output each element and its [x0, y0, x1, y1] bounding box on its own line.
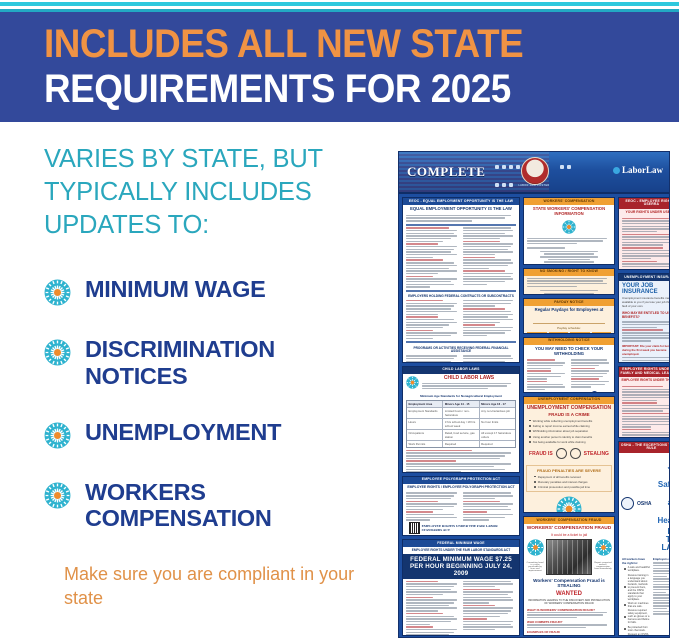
- panel-header: UNEMPLOYMENT COMPENSATION: [524, 397, 614, 404]
- handcuffs-icon: [556, 447, 581, 460]
- panel-payday-notice: PAYDAY NOTICE Regular Paydays for Employ…: [523, 298, 615, 334]
- jail-photo: [546, 539, 592, 575]
- panel-unemployment-fraud: UNEMPLOYMENT COMPENSATION UNEMPLOYMENT C…: [523, 396, 615, 514]
- compliance-footnote: Make sure you are compliant in your stat…: [64, 562, 374, 611]
- list-item: Work on machines that are safe.: [628, 602, 650, 608]
- icon-caption-right: Report suspected workers' compensation f…: [594, 562, 612, 570]
- promo-graphic: INCLUDES ALL NEW STATE REQUIREMENTS FOR …: [0, 0, 679, 644]
- list-item: Working while collecting unemployment be…: [533, 419, 593, 423]
- agency-label: EMPLOYEE RIGHTS UNDER THE FAIR LABOR STA…: [422, 524, 513, 532]
- sunburst-icon: [562, 220, 576, 234]
- payday-option[interactable]: Bi-Weekly: [549, 332, 569, 334]
- cell: Hours: [407, 419, 443, 429]
- osha-headline-1: Job Safety and Health: [657, 462, 670, 525]
- panel-header: EEOC - EQUAL EMPLOYMENT OPPORTUNITY IS T…: [403, 198, 519, 205]
- poster-logo-text: LaborLaw: [622, 165, 663, 175]
- panel-no-smoking: NO SMOKING / RIGHT TO KNOW: [523, 268, 615, 296]
- panel-title: CHILD LABOR LAWS: [422, 376, 516, 382]
- cell: 3 hrs school day / 18 hrs school week: [443, 419, 479, 429]
- col-header: Minors Age 16 - 17: [480, 401, 515, 407]
- headline-line1: INCLUDES ALL NEW STATE: [44, 24, 628, 64]
- list-item: Monetary penalties and interest charges: [538, 480, 588, 484]
- poster-header: COMPLETE LABOR LAW POSTER LaborLaw: [399, 152, 669, 194]
- important-note: IMPORTANT: File your claim for benefits …: [622, 344, 670, 356]
- section-heading: WHO MAY BE ENTITLED TO UI BENEFITS?: [619, 309, 670, 319]
- callout-right: STEALING: [584, 451, 609, 457]
- payday-option[interactable]: Weekly: [527, 332, 547, 334]
- poster-logo: LaborLaw: [613, 165, 663, 175]
- labor-law-poster-image: COMPLETE LABOR LAW POSTER LaborLaw EEOC …: [398, 151, 670, 638]
- panel-title: YOUR RIGHTS UNDER USERRA: [619, 209, 670, 216]
- panel-title: YOU MAY NEED TO CHECK YOUR WITHHOLDING: [524, 345, 614, 358]
- panel-fmla: EMPLOYEE RIGHTS UNDER THE FAMILY AND MED…: [618, 366, 670, 438]
- panel-title: STATE WORKERS' COMPENSATION INFORMATION: [524, 205, 614, 218]
- osha-logo: OSHA: [637, 501, 651, 507]
- list-item: Request an OSHA inspection, and speak to…: [628, 633, 650, 636]
- panel-subheading: EMPLOYERS HOLDING FEDERAL CONTRACTS OR S…: [406, 293, 516, 300]
- panel-header: UNEMPLOYMENT INSURANCE: [619, 274, 670, 281]
- poster-column-right: EEOC - EMPLOYEE RIGHTS / USERRA YOUR RIG…: [618, 197, 670, 636]
- options-label: Payday schedule:: [527, 326, 611, 330]
- poster-brand: COMPLETE: [407, 164, 485, 180]
- panel-header: WORKERS' COMPENSATION FRAUD: [524, 517, 614, 524]
- panel-child-labor: CHILD LABOR LAWS CHILD LABOR LAWS: [402, 366, 520, 473]
- child-labor-table: Employment Area Minors Age 14 - 15 Minor…: [406, 400, 516, 448]
- poster-seal-caption: LABOR LAW POSTER: [509, 184, 559, 187]
- payday-option[interactable]: Monthly: [592, 332, 612, 334]
- panel-title: WORKERS' COMPENSATION FRAUD: [524, 524, 614, 533]
- sunburst-icon: [527, 539, 544, 556]
- list-item-label: UNEMPLOYMENT: [85, 419, 281, 445]
- list-item-label: MINIMUM WAGE: [85, 276, 265, 302]
- panel-job-insurance: UNEMPLOYMENT INSURANCE YOUR JOB INSURANC…: [618, 273, 670, 362]
- headline-banner: INCLUDES ALL NEW STATE REQUIREMENTS FOR …: [0, 12, 679, 122]
- penalties-title: FRAUD PENALTIES ARE SEVERE: [529, 468, 609, 473]
- icon-caption-left: Committing fraud is a crime punishable b…: [526, 562, 544, 572]
- cell: Work Permits: [407, 441, 443, 447]
- list-item: Not being available for work while claim…: [533, 440, 586, 444]
- list-item: Be protected from toxic chemicals.: [628, 626, 650, 632]
- panel-subheading-2: PROGRAMS OR ACTIVITIES RECEIVING FEDERAL…: [406, 345, 516, 355]
- panel-header: NO SMOKING / RIGHT TO KNOW: [524, 269, 614, 276]
- panel-workers-comp-fraud: WORKERS' COMPENSATION FRAUD WORKERS' COM…: [523, 516, 615, 636]
- panel-userra: EEOC - EMPLOYEE RIGHTS / USERRA YOUR RIG…: [618, 197, 670, 270]
- panel-header: WORKERS' COMPENSATION: [524, 198, 614, 205]
- cell: Limited hours / non-hazardous: [443, 408, 479, 418]
- list-item-label: DISCRIMINATION NOTICES: [85, 336, 374, 389]
- table-row: Employment Standards Limited hours / non…: [407, 408, 515, 419]
- list-item: Repayment of all benefits received: [538, 475, 581, 479]
- panel-federal-minimum-wage: FEDERAL MINIMUM WAGE EMPLOYEE RIGHTS UND…: [402, 539, 520, 636]
- col-header: Minors Age 14 - 15: [443, 401, 479, 407]
- sunburst-icon: [406, 376, 419, 389]
- col-header: Employment Area: [407, 401, 443, 407]
- cell: No hour limits: [480, 419, 515, 429]
- list-item: Withholding information about job separa…: [533, 429, 588, 433]
- list-item: Failing to report income earned while cl…: [533, 424, 590, 428]
- sunburst-icon: [44, 279, 71, 306]
- wanted-subtitle: INFORMATION LEADING TO THE DISCOVERY AND…: [524, 598, 614, 606]
- panel-polygraph: EMPLOYEE POLYGRAPH PROTECTION ACT EMPLOY…: [402, 476, 520, 536]
- sunburst-icon: [44, 482, 71, 509]
- table-row: Hours 3 hrs school day / 18 hrs school w…: [407, 419, 515, 430]
- intro-text: VARIES BY STATE, BUT TYPICALLY INCLUDES …: [44, 143, 374, 242]
- cell: Employment Standards: [407, 408, 443, 418]
- panel-title: UNEMPLOYMENT COMPENSATION: [524, 404, 614, 413]
- list-item: MINIMUM WAGE: [44, 276, 374, 306]
- fraud-examples-list: Working while collecting unemployment be…: [524, 419, 614, 445]
- cell: Required: [480, 441, 515, 447]
- poster-column-left: EEOC - EQUAL EMPLOYMENT OPPORTUNITY IS T…: [402, 197, 520, 636]
- osha-brand-row: OSHA Job Safety and Health IT'S THE LAW!: [619, 453, 670, 555]
- list-item: WORKERS COMPENSATION: [44, 479, 374, 532]
- headline-line2: REQUIREMENTS FOR 2025: [44, 68, 628, 110]
- panel-header: CHILD LABOR LAWS: [403, 367, 519, 374]
- list-item: UNEMPLOYMENT: [44, 419, 374, 449]
- poster-column-middle: WORKERS' COMPENSATION STATE WORKERS' COM…: [523, 197, 615, 636]
- panel-subtitle: EMPLOYEE RIGHTS UNDER THE FAIR LABOR STA…: [403, 547, 519, 554]
- panel-title: EMPLOYEE RIGHTS / EMPLOYEE POLYGRAPH PRO…: [403, 484, 519, 491]
- sunburst-icon: [556, 496, 582, 513]
- osha-right-heading: Employers must:: [653, 557, 670, 561]
- wanted-title: WANTED: [524, 589, 614, 598]
- panel-header: FEDERAL MINIMUM WAGE: [403, 540, 519, 547]
- panel-header: OSHA - THE EXCEPTIONS TO THE RULE: [619, 442, 670, 453]
- panel-withholding: WITHHOLDING NOTICE YOU MAY NEED TO CHECK…: [523, 337, 615, 393]
- table-row: Work Permits Required Required: [407, 441, 515, 447]
- cell: Required: [443, 441, 479, 447]
- left-content-column: VARIES BY STATE, BUT TYPICALLY INCLUDES …: [44, 143, 374, 610]
- list-item: DISCRIMINATION NOTICES: [44, 336, 374, 389]
- osha-seal-icon: [621, 497, 634, 510]
- osha-left-heading: All workers have the right to:: [622, 557, 650, 565]
- panel-title: EQUAL EMPLOYMENT OPPORTUNITY IS THE LAW: [403, 205, 519, 213]
- payday-option[interactable]: Semi-Monthly: [570, 332, 590, 334]
- list-item: A safe and healthful workplace.: [628, 566, 650, 572]
- list-item: Criminal prosecution and possible jail t…: [538, 485, 590, 489]
- photo-caption: Workers' Compensation Fraud is STEALING: [524, 577, 614, 589]
- section-heading: EXAMPLES OF FRAUD: [527, 630, 611, 634]
- panel-eeoc: EEOC - EQUAL EMPLOYMENT OPPORTUNITY IS T…: [402, 197, 520, 363]
- osha-headline-2: IT'S THE LAW!: [657, 528, 670, 552]
- cell: All except 17 hazardous orders: [480, 430, 515, 440]
- panel-header: EMPLOYEE POLYGRAPH PROTECTION ACT: [403, 477, 519, 484]
- panel-header: EEOC - EMPLOYEE RIGHTS / USERRA: [619, 198, 670, 209]
- list-item: Receive required safety equipment, such …: [628, 609, 650, 624]
- cell: Any non-hazardous job: [480, 408, 515, 418]
- poster-body: EEOC - EQUAL EMPLOYMENT OPPORTUNITY IS T…: [399, 194, 669, 638]
- cell: Occupations: [407, 430, 443, 440]
- cell: Retail, food service, gas station: [443, 430, 479, 440]
- globe-icon: [613, 167, 620, 174]
- list-item: Using another person's identity to claim…: [533, 435, 592, 439]
- panel-header: PAYDAY NOTICE: [524, 299, 614, 306]
- panel-osha: OSHA - THE EXCEPTIONS TO THE RULE OSHA J…: [618, 441, 670, 636]
- qr-code-icon: [409, 522, 420, 534]
- table-header-row: Employment Area Minors Age 14 - 15 Minor…: [407, 401, 515, 408]
- eagle-icon: [591, 391, 598, 392]
- table-row: Occupations Retail, food service, gas st…: [407, 430, 515, 441]
- sunburst-icon: [44, 422, 71, 449]
- list-item-label: WORKERS COMPENSATION: [85, 479, 374, 532]
- panel-header: EMPLOYEE RIGHTS UNDER THE FAMILY AND MED…: [619, 367, 670, 378]
- panel-title: Regular Paydays for Employees at: [524, 306, 614, 314]
- panel-header: WITHHOLDING NOTICE: [524, 338, 614, 345]
- poster-seal-icon: [521, 157, 549, 185]
- top-rule-cyan: [0, 2, 679, 6]
- panel-title: EMPLOYEE RIGHTS UNDER THE FMLA: [619, 377, 670, 384]
- panel-subtitle: Unemployment insurance benefits may be a…: [619, 295, 670, 309]
- sunburst-icon: [595, 539, 612, 556]
- sunburst-icon: [44, 339, 71, 366]
- callout-left: FRAUD IS: [529, 451, 553, 457]
- minimum-wage-banner: FEDERAL MINIMUM WAGE $7.25 PER HOUR BEGI…: [403, 554, 519, 579]
- panel-workers-comp-info: WORKERS' COMPENSATION STATE WORKERS' COM…: [523, 197, 615, 265]
- list-item: Receive training in a language you under…: [628, 574, 650, 601]
- panel-title: YOUR JOB INSURANCE: [619, 281, 670, 295]
- benefit-list: MINIMUM WAGE: [44, 276, 374, 531]
